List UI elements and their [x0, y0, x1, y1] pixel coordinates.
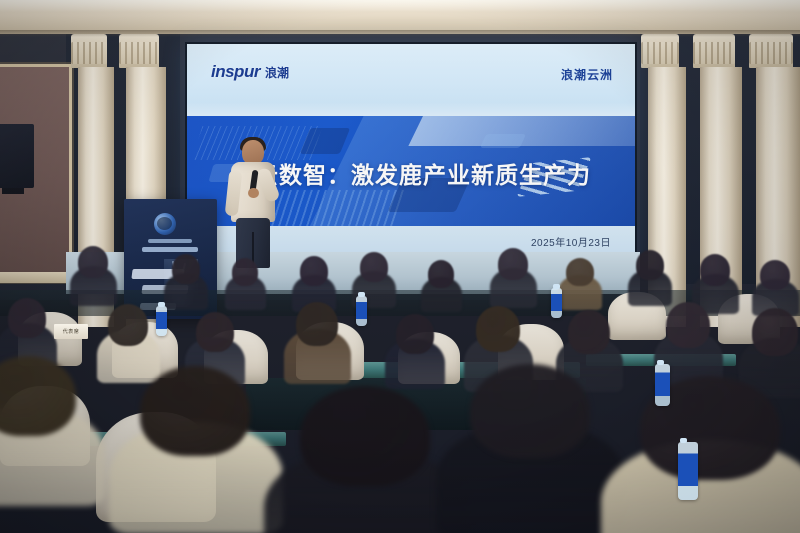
ceiling-shadow: [0, 30, 800, 37]
audience-head: [752, 308, 798, 356]
yunzhou-logo: 浪潮云洲: [561, 66, 613, 83]
inspur-logo: inspur浪潮: [211, 62, 289, 82]
water-bottle[interactable]: [655, 364, 670, 406]
audience-head: [498, 248, 528, 280]
column-capital: [119, 34, 159, 68]
slide-tech-block-d: [480, 134, 526, 148]
audience-head: [470, 364, 590, 458]
bottle-cap-icon: [553, 284, 560, 289]
audience-head: [140, 366, 250, 456]
column-capital: [641, 34, 679, 68]
podium-logo-icon: [154, 213, 176, 235]
bottle-cap-icon: [680, 438, 687, 443]
speaker-hand: [248, 188, 259, 198]
audience-head: [296, 302, 338, 346]
name-placard-text: 代表席: [54, 328, 88, 335]
wall-monitor: [0, 124, 34, 188]
water-bottle[interactable]: [156, 306, 167, 336]
slide-tech-block-a: [300, 128, 351, 154]
inspur-logo-cn: 浪潮: [265, 66, 289, 80]
audience-head: [568, 310, 610, 354]
audience-head: [760, 260, 790, 290]
audience-head: [232, 258, 258, 286]
water-bottle[interactable]: [356, 296, 367, 326]
audience-head: [396, 314, 434, 354]
wall-monitor-stand: [2, 188, 24, 194]
column-capital: [693, 34, 735, 68]
water-bottle[interactable]: [551, 288, 562, 318]
bottle-cap-icon: [358, 292, 365, 297]
audience-head: [300, 256, 328, 286]
audience-head: [700, 254, 730, 286]
audience-head: [666, 302, 710, 348]
audience-head: [566, 258, 594, 286]
audience-head: [300, 386, 430, 486]
audience-head: [108, 304, 148, 346]
bottle-cap-icon: [657, 360, 664, 365]
audience-head: [636, 250, 664, 280]
inspur-logo-latin: inspur: [211, 62, 260, 81]
audience-head: [8, 298, 46, 338]
audience-head: [172, 254, 200, 284]
audience-head: [476, 306, 520, 352]
bottle-cap-icon: [158, 302, 165, 307]
name-placard: 代表席: [54, 324, 88, 339]
audience-head: [196, 312, 234, 352]
column-capital: [71, 34, 107, 68]
audience-head: [78, 246, 108, 278]
ceiling-highlight: [0, 0, 800, 12]
water-bottle[interactable]: [678, 442, 698, 500]
audience: 代表席: [0, 236, 800, 533]
audience-head: [0, 356, 76, 436]
conference-photo-scene: inspur浪潮 浪潮云洲 云数智：激发鹿产业新质生产力 2025年10月23日: [0, 0, 800, 533]
audience-head: [428, 260, 454, 288]
column-capital: [749, 34, 793, 68]
audience-head: [360, 252, 388, 282]
